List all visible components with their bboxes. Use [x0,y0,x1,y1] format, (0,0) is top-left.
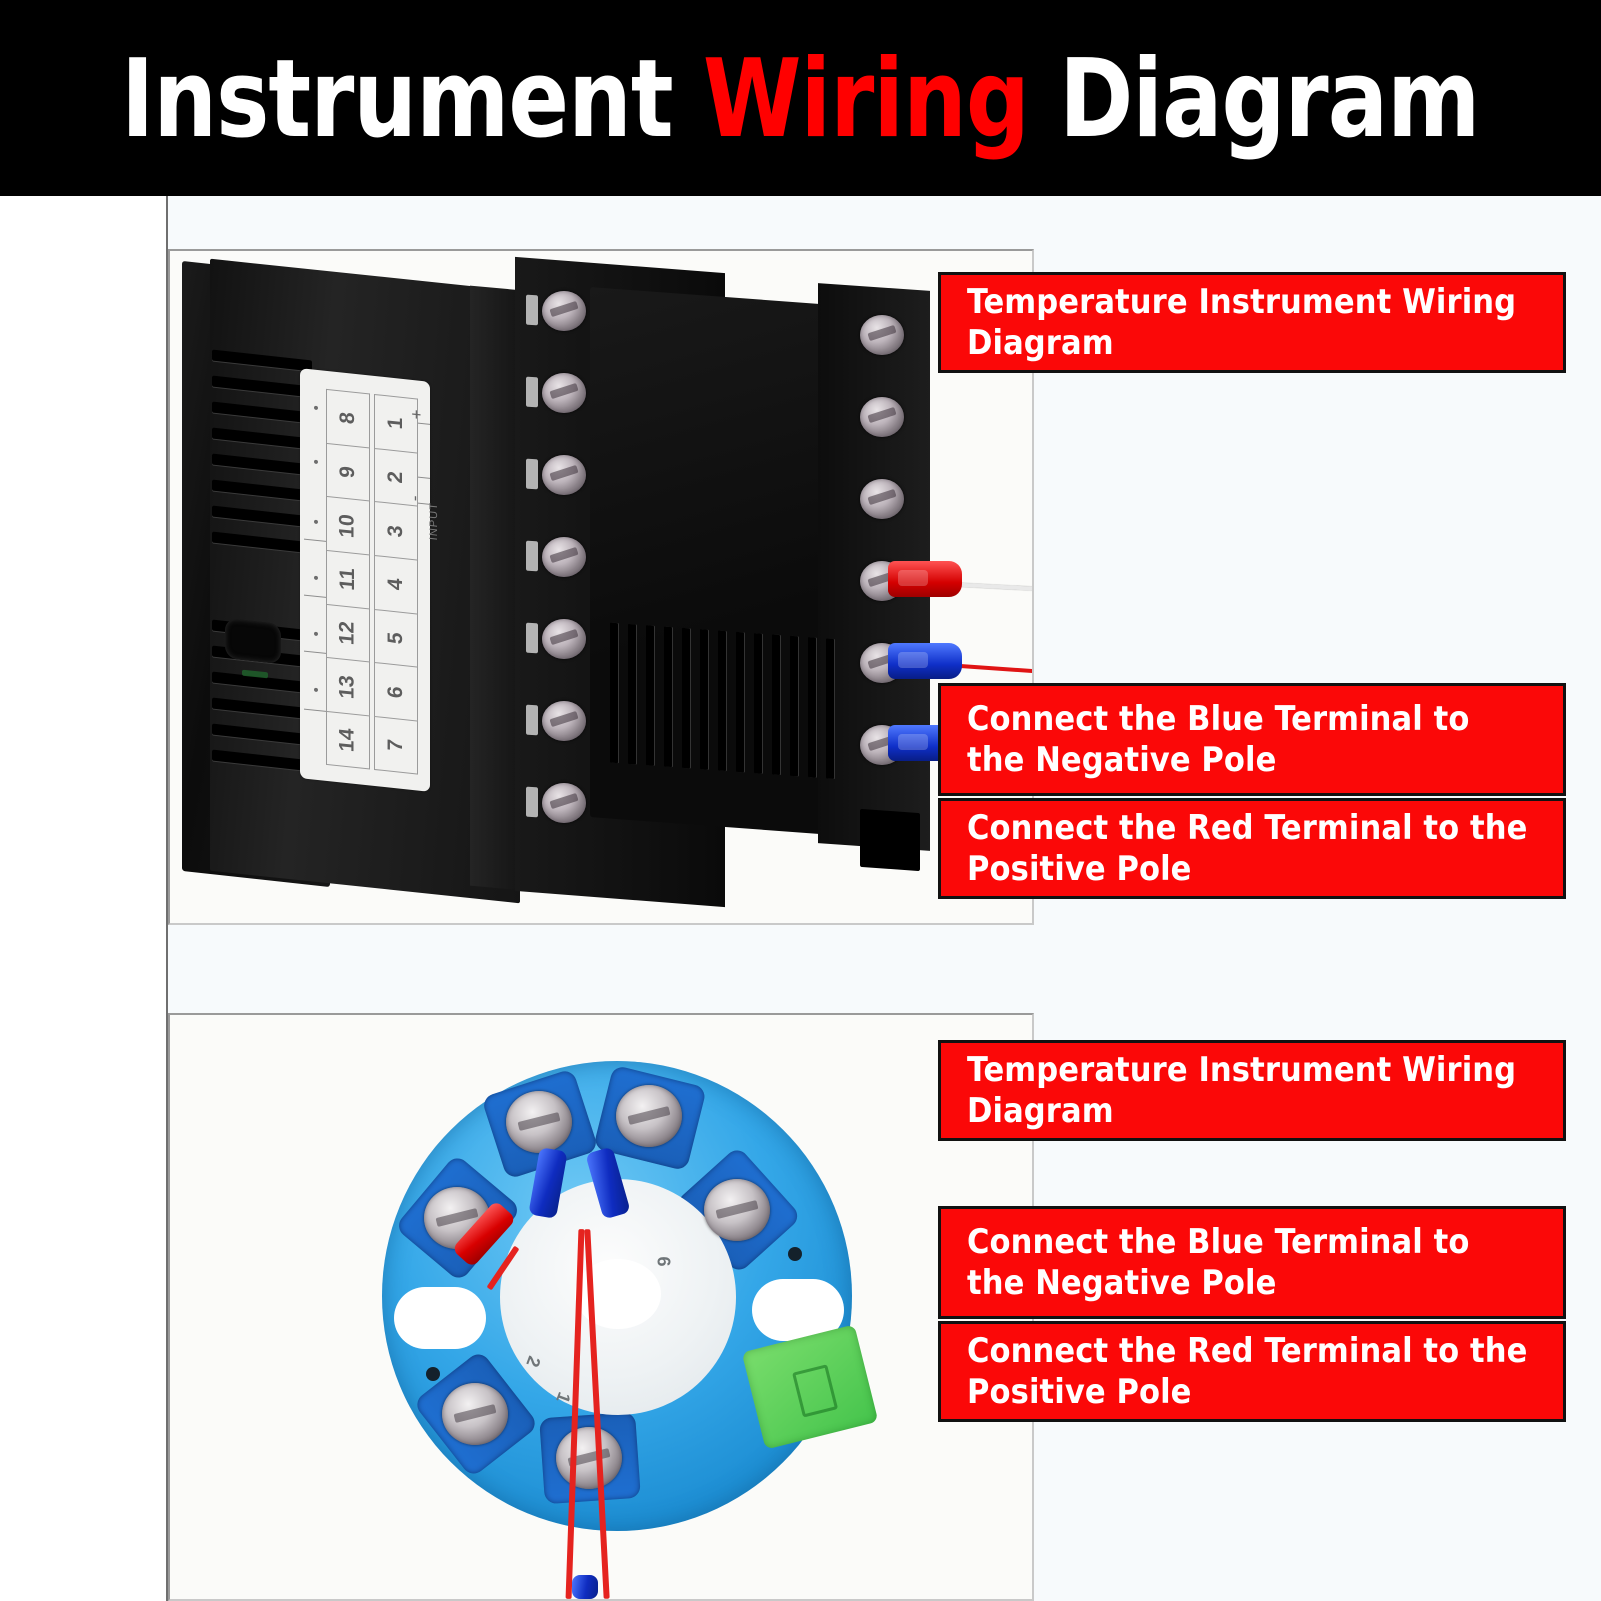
terminal-number: 2 [384,470,408,484]
callout-line: the Negative Pole [967,1263,1469,1303]
wiring-label-left-column: 8 9 10 11 12 13 14 [326,389,370,770]
mounting-hole [394,1287,486,1349]
terminal-number: 9 [336,465,360,479]
transmitter-terminal-screw [442,1383,508,1445]
terminal-screw [542,537,586,577]
callout-line: Connect the Red Terminal to the [967,1331,1527,1371]
terminal-screw [542,783,586,823]
terminal-screw [860,479,904,519]
controller-vents [212,350,312,781]
page-title: Instrument Wiring Diagram [121,46,1479,154]
callout-bottom-red-terminal: Connect the Red Terminal to the Positive… [938,1321,1566,1422]
wiring-label-input-text: INPUT [428,502,440,541]
terminal-number: 1 [384,416,408,430]
lower-vent-detail [860,809,920,871]
red-terminal-lug [888,561,962,597]
terminal-screw [542,455,586,495]
terminal-number: 13 [336,674,360,700]
callout-line: Connect the Red Terminal to the [967,808,1527,848]
callout-top-blue-terminal: Connect the Blue Terminal to the Negativ… [938,683,1566,796]
transmitter-terminal-screw [616,1085,682,1147]
transmitter-terminal-screw [704,1179,770,1241]
terminal-number: 4 [384,578,408,592]
callout-line: Positive Pole [967,849,1527,889]
back-cover-vents [610,623,840,780]
page-title-part2: Diagram [1029,37,1479,162]
terminal-screw [542,701,586,741]
terminal-number: 6 [384,685,408,699]
terminal-screw [860,397,904,437]
callout-line: Temperature Instrument Wiring Diagram [967,1050,1549,1130]
photo-panel-controller: 8 9 10 11 12 13 14 1 2 3 4 5 6 7 + - INP… [168,249,1034,925]
terminal-screw [542,619,586,659]
callout-line: Connect the Blue Terminal to [967,1222,1469,1262]
callout-bottom-blue-terminal: Connect the Blue Terminal to the Negativ… [938,1206,1566,1319]
board-pin [788,1247,802,1261]
terminal-number: 14 [336,727,360,753]
terminal-number: 3 [384,524,408,538]
terminal-screw [542,373,586,413]
page-title-part1: Instrument [121,37,703,162]
controller-photo: 8 9 10 11 12 13 14 1 2 3 4 5 6 7 + - INP… [170,251,1032,923]
callout-line: Positive Pole [967,1372,1527,1412]
terminal-screw [860,315,904,355]
header-banner: Instrument Wiring Diagram [0,0,1601,196]
callout-line: the Negative Pole [967,740,1469,780]
terminal-number: 11 [336,567,360,592]
blue-terminal-lug [888,643,962,679]
callout-line: Temperature Instrument Wiring Diagram [967,282,1549,362]
transmitter-photo: 6 2 1 [170,1015,1032,1599]
terminal-number: 7 [384,738,408,752]
photo-panel-transmitter: 6 2 1 [168,1013,1034,1601]
terminal-number: 8 [336,411,360,425]
terminal-number: 10 [336,513,360,539]
board-pin [426,1367,440,1381]
red-wire [960,664,1034,674]
board-print-mark: 6 [653,1256,674,1266]
transmitter-terminal-screw [556,1427,622,1489]
polarity-plus-mark: + [407,408,427,420]
transmitter-terminal-screw [506,1091,572,1153]
callout-bottom-title: Temperature Instrument Wiring Diagram [938,1040,1566,1141]
terminal-number: 12 [336,620,360,646]
blue-terminal-lug [572,1575,598,1599]
callout-line: Connect the Blue Terminal to [967,699,1469,739]
controller-knob [225,618,281,664]
wiring-label-sticker: 8 9 10 11 12 13 14 1 2 3 4 5 6 7 + - INP… [300,368,430,792]
white-wire [960,583,1034,591]
terminal-screw [542,291,586,331]
callout-top-title: Temperature Instrument Wiring Diagram [938,272,1566,373]
terminal-number: 5 [384,631,408,645]
callout-top-red-terminal: Connect the Red Terminal to the Positive… [938,798,1566,899]
wiring-label-right-column: 1 2 3 4 5 6 7 [374,394,418,775]
page-title-accent: Wiring [703,37,1029,162]
